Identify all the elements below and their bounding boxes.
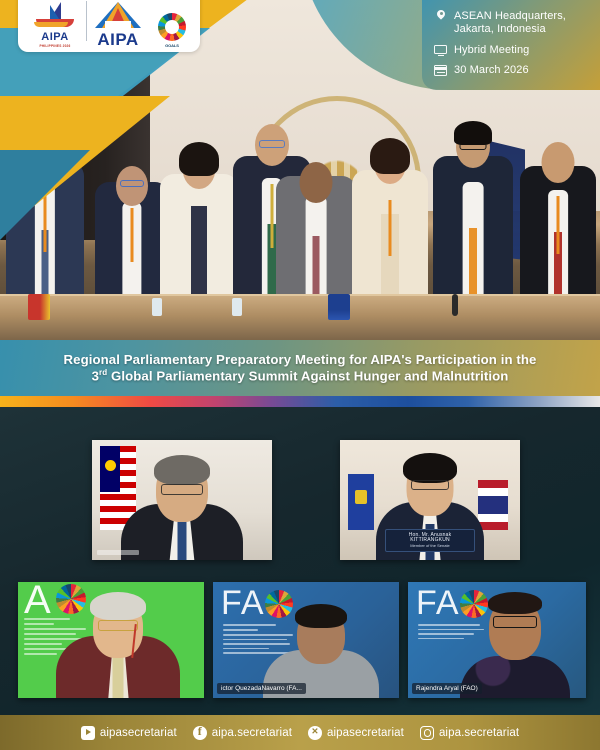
youtube-icon	[81, 726, 95, 740]
video-feed	[92, 440, 272, 560]
youtube-handle: aipasecretariat	[100, 727, 177, 739]
aipa-wordmark-1: AIPA	[41, 32, 68, 43]
participant-nameplate: Hon. Mr. Anusnak KITTIRANGKUN Member of …	[385, 529, 475, 552]
delegate-hair	[179, 142, 219, 176]
malaysia-flag-star	[105, 460, 116, 471]
participant-glasses	[98, 620, 138, 631]
asean-flag-emblem	[355, 490, 367, 504]
delegate-tie	[313, 236, 320, 294]
social-youtube[interactable]: aipasecretariat	[81, 726, 177, 740]
participant-name-label: ictor QuezadaNavarro (FA...	[217, 683, 306, 694]
participant-hair	[154, 455, 210, 485]
delegate-lanyard	[389, 200, 392, 256]
event-poster: AIPA PHILIPPINES 2026 AIPA GOALS ASEAN H…	[0, 0, 600, 750]
calendar-icon	[434, 65, 447, 76]
delegate-7	[433, 116, 513, 294]
delegate-lanyard	[131, 208, 134, 262]
instagram-icon	[420, 726, 434, 740]
social-x[interactable]: aipasecretariat	[308, 726, 404, 740]
event-location: ASEAN Headquarters, Jakarta, Indonesia	[454, 10, 590, 37]
event-mode: Hybrid Meeting	[454, 44, 529, 57]
broadcast-watermark	[97, 550, 139, 555]
sdg-wheel-icon	[158, 13, 186, 41]
delegate-tie	[469, 228, 477, 294]
delegate-blouse	[191, 206, 207, 294]
delegate-lanyard	[44, 192, 47, 252]
logo-card: AIPA PHILIPPINES 2026 AIPA GOALS	[18, 0, 200, 52]
participant-hair	[403, 453, 457, 483]
delegate-hair	[370, 138, 410, 174]
event-title-ordinal: 3	[92, 368, 99, 383]
delegate-head	[542, 142, 575, 183]
sdg-wheel-icon	[56, 584, 86, 614]
delegate-6	[352, 132, 428, 294]
fao-wordmark: FA	[416, 584, 460, 623]
nameplate-title: Member of the Senate	[394, 544, 466, 548]
aipa-philippines-2026-logo: AIPA PHILIPPINES 2026	[32, 0, 78, 48]
event-title-line-2: Global Parliamentary Summit Against Hung…	[107, 368, 508, 383]
thailand-flag	[478, 480, 508, 530]
map-pin-icon	[434, 10, 447, 24]
participant-tie	[178, 520, 187, 560]
event-title: Regional Parliamentary Preparatory Meeti…	[52, 352, 549, 385]
conference-table	[0, 294, 600, 340]
participant-hair	[295, 604, 347, 628]
table-flag-timor	[28, 294, 50, 320]
fao-wordmark: A	[24, 582, 52, 623]
event-title-ordinal-suffix: rd	[99, 368, 107, 377]
participant-hair	[90, 592, 146, 620]
aipa-arch-icon	[95, 0, 141, 30]
x-handle: aipasecretariat	[327, 727, 404, 739]
facebook-icon	[193, 726, 207, 740]
delegate-5	[276, 142, 356, 294]
event-title-line-1: Regional Parliamentary Preparatory Meeti…	[64, 352, 537, 367]
logo-divider	[86, 1, 87, 41]
social-footer: aipasecretariat aipa.secretariat aipasec…	[0, 715, 600, 750]
video-feed: FA ictor QuezadaNavarro (FA...	[213, 582, 399, 698]
delegate-8	[520, 128, 596, 294]
event-info-box: ASEAN Headquarters, Jakarta, Indonesia H…	[422, 0, 600, 90]
participant-hair	[488, 592, 542, 614]
facebook-handle: aipa.secretariat	[212, 727, 292, 739]
rainbow-divider	[0, 396, 600, 407]
table-flag-asean	[328, 294, 350, 320]
virtual-participants-gallery: Hon. Mr. Anusnak KITTIRANGKUN Member of …	[0, 407, 600, 715]
participant-glasses	[411, 480, 449, 490]
video-feed: FA Rajendra Aryal (FAO)	[408, 582, 586, 698]
background-text-lines	[418, 624, 488, 642]
tile-fao-blue-1[interactable]: FA ictor QuezadaNavarro (FA...	[213, 582, 399, 698]
delegate-glasses	[120, 180, 144, 187]
participant-glasses	[493, 616, 537, 628]
x-twitter-icon	[308, 726, 322, 740]
tile-thailand[interactable]: Hon. Mr. Anusnak KITTIRANGKUN Member of …	[340, 440, 520, 560]
delegate-head	[300, 162, 333, 203]
aipa-logo: AIPA	[95, 0, 141, 48]
sdg-logo: GOALS	[158, 0, 186, 48]
sailboat-icon	[32, 2, 78, 32]
event-title-band: Regional Parliamentary Preparatory Meeti…	[0, 340, 600, 396]
asean-flag	[348, 474, 374, 530]
info-row-date: 30 March 2026	[434, 64, 590, 77]
microphone	[452, 294, 458, 316]
social-instagram[interactable]: aipa.secretariat	[420, 726, 519, 740]
delegate-3	[160, 134, 238, 294]
hybrid-screen-icon	[434, 45, 447, 54]
participant-name-label: Rajendra Aryal (FAO)	[412, 683, 482, 694]
info-row-mode: Hybrid Meeting	[434, 44, 590, 57]
tile-fao-green[interactable]: A	[18, 582, 204, 698]
video-feed: A	[18, 582, 204, 698]
video-feed: Hon. Mr. Anusnak KITTIRANGKUN Member of …	[340, 440, 520, 560]
participant-tie	[113, 656, 124, 698]
water-glass	[232, 298, 242, 316]
aipa-host-year-label: PHILIPPINES 2026	[39, 44, 70, 48]
fao-wordmark: FA	[221, 584, 265, 623]
delegate-hair	[454, 121, 492, 145]
instagram-handle: aipa.secretariat	[439, 727, 519, 739]
delegate-2	[95, 144, 169, 294]
sdg-wheel-icon	[460, 590, 488, 618]
tile-fao-blue-2[interactable]: FA Rajendra Aryal (FAO)	[408, 582, 586, 698]
water-glass	[152, 298, 162, 316]
delegate-lanyard	[271, 184, 274, 248]
participant-glasses	[161, 484, 203, 495]
tile-malaysia[interactable]	[92, 440, 272, 560]
event-date: 30 March 2026	[454, 64, 529, 77]
social-facebook[interactable]: aipa.secretariat	[193, 726, 292, 740]
info-row-location: ASEAN Headquarters, Jakarta, Indonesia	[434, 10, 590, 37]
delegate-lanyard	[557, 196, 560, 254]
sdg-wheel-icon	[265, 590, 293, 618]
aipa-wordmark-2: AIPA	[97, 31, 138, 48]
sdg-label: GOALS	[165, 43, 179, 48]
